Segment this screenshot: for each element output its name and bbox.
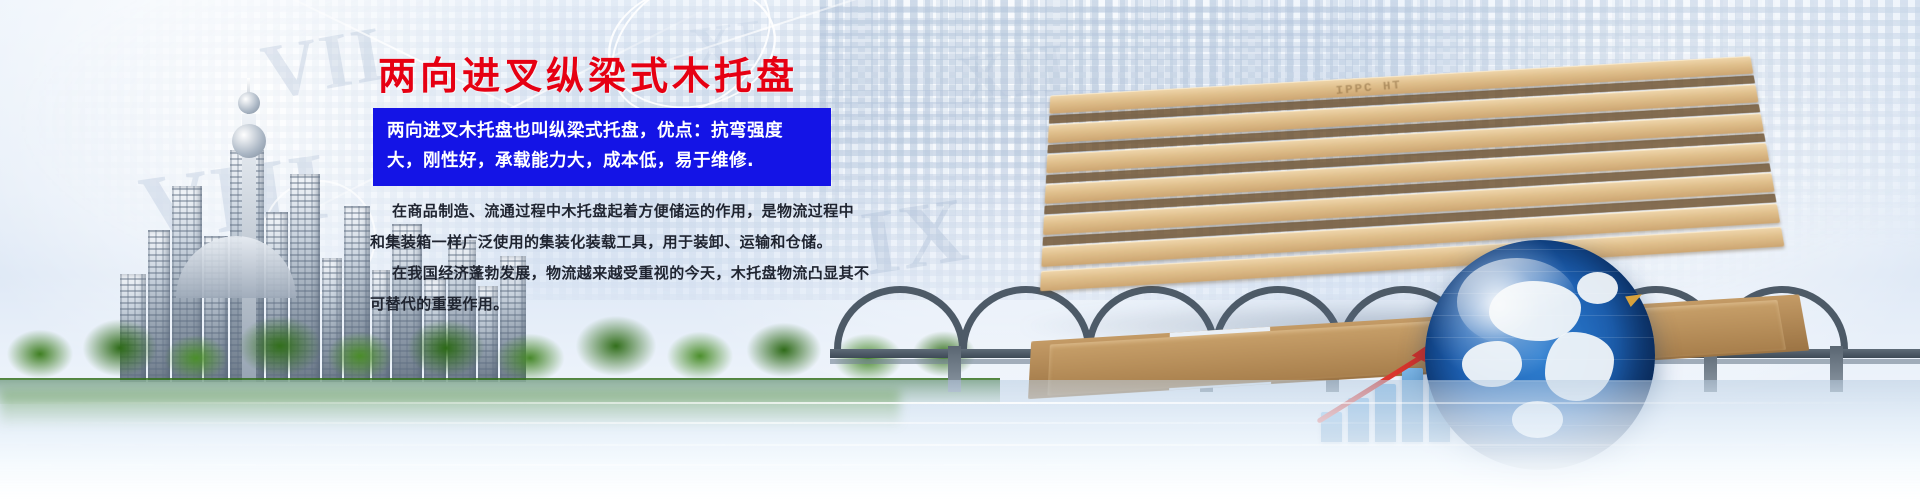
body-line-2: 和集装箱一样广泛使用的集装化装载工具，用于装卸、运输和仓储。 bbox=[370, 227, 840, 258]
promotional-banner: VII VIII IX XI XII bbox=[0, 0, 1920, 500]
body-paragraph: 在商品制造、流通过程中木托盘起着方便储运的作用，是物流过程中 和集装箱一样广泛使… bbox=[370, 196, 840, 320]
banner-title: 两向进叉纵梁式木托盘 bbox=[378, 57, 798, 97]
highlight-callout-box: 两向进叉木托盘也叫纵梁式托盘，优点：抗弯强度 大，刚性好，承载能力大，成本低，易… bbox=[373, 108, 831, 186]
wooden-pallet-photo: IPPC HT bbox=[1031, 52, 1800, 346]
highlight-line-1: 两向进叉木托盘也叫纵梁式托盘，优点：抗弯强度 bbox=[387, 116, 819, 146]
highlight-line-2: 大，刚性好，承载能力大，成本低，易于维修. bbox=[387, 146, 819, 176]
body-line-4: 可替代的重要作用。 bbox=[370, 289, 840, 320]
body-line-3: 在我国经济蓬勃发展，物流越来越受重视的今天，木托盘物流凸显其不 bbox=[370, 258, 840, 289]
body-line-1: 在商品制造、流通过程中木托盘起着方便储运的作用，是物流过程中 bbox=[370, 196, 840, 227]
